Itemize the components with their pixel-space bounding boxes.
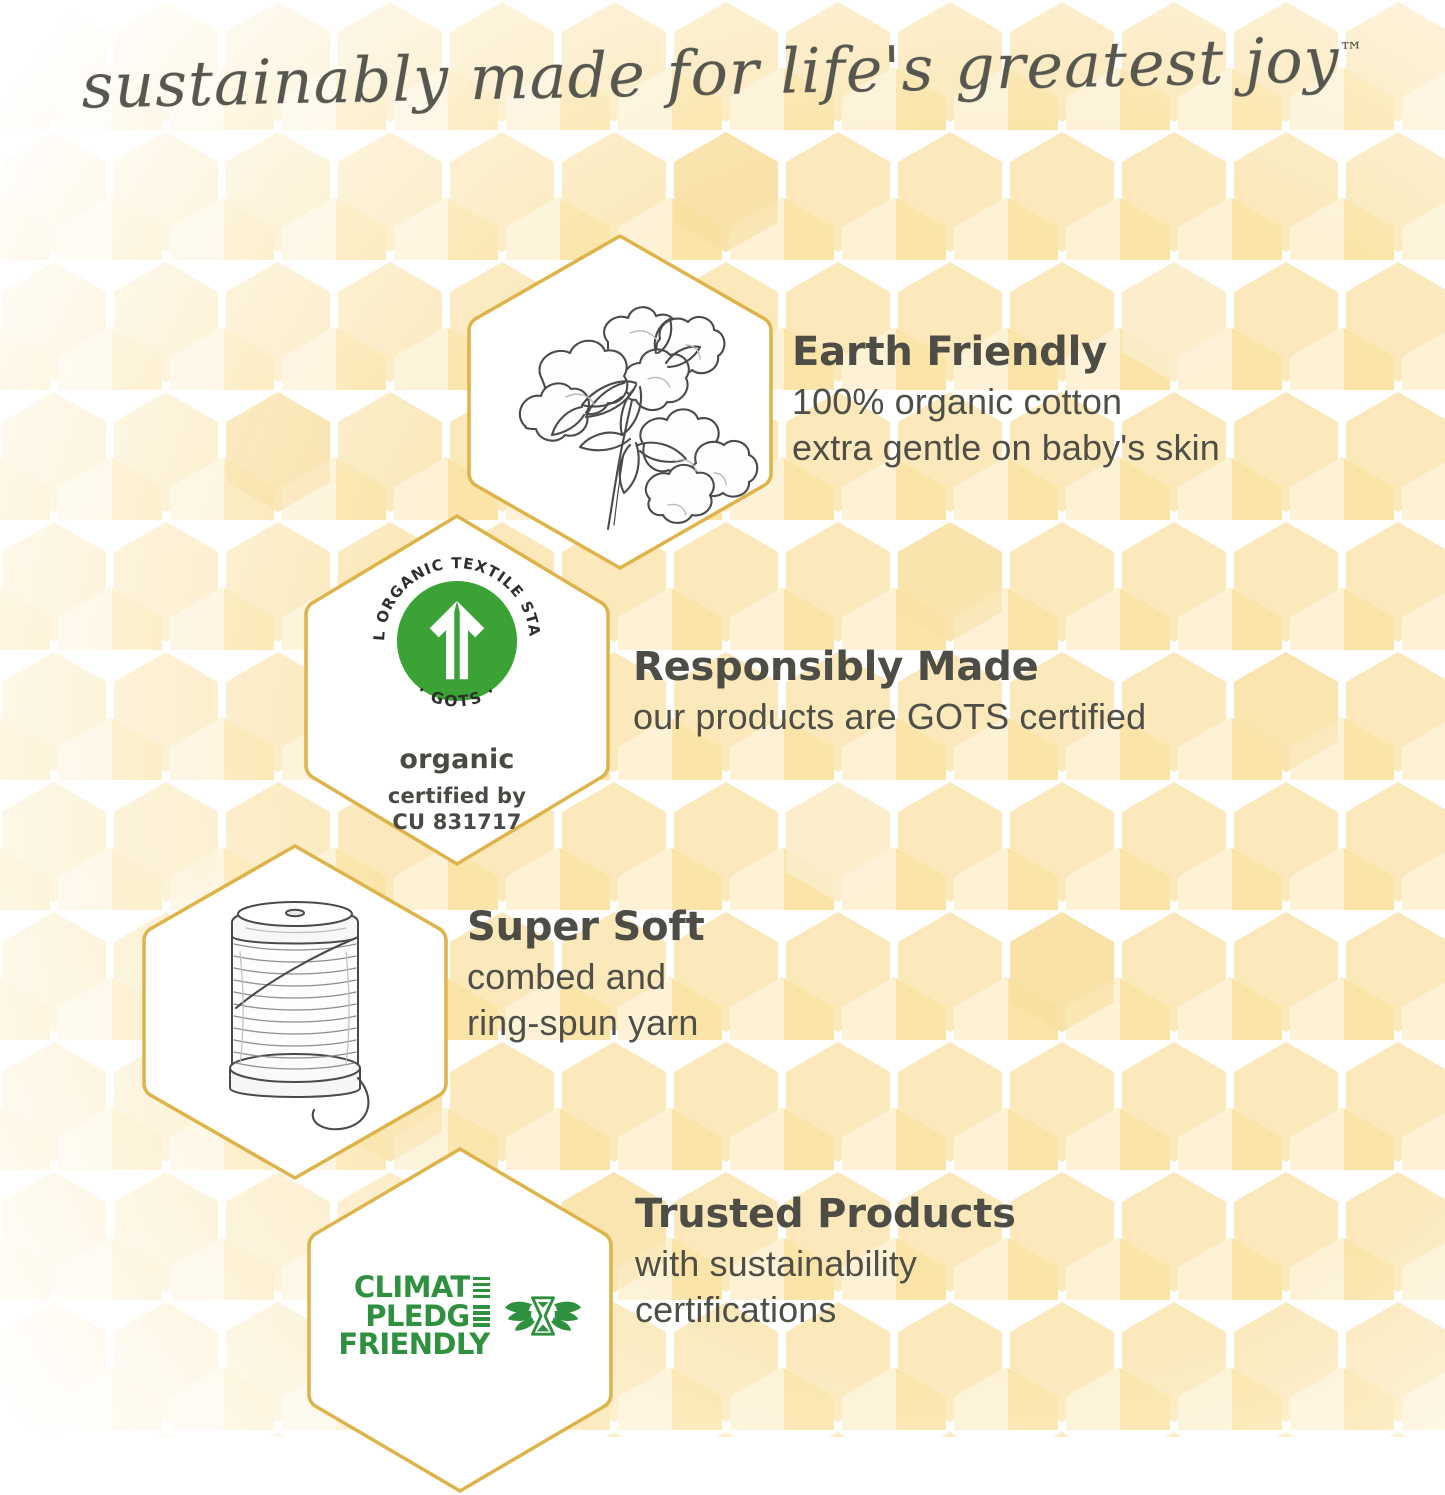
feature-card-super-soft: [140, 842, 450, 1182]
gots-seal-icon: GLOBAL ORGANIC TEXTILE STANDARD · GOTS ·: [366, 550, 548, 732]
feature-heading: Super Soft: [467, 905, 927, 950]
cpf-line-1: CLIMAT: [354, 1273, 470, 1302]
feature-heading: Trusted Products: [635, 1192, 1115, 1237]
gots-organic-label: organic: [399, 744, 514, 775]
feature-card-responsibly-made: GLOBAL ORGANIC TEXTILE STANDARD · GOTS ·…: [302, 512, 612, 868]
feature-card-trusted-products: CLIMAT PLEDG FRIENDLY: [305, 1145, 615, 1495]
feature-text-responsibly-made: Responsibly Made our products are GOTS c…: [633, 645, 1333, 740]
winged-hourglass-icon: [504, 1281, 582, 1351]
tagline-text: sustainably made for life's greatest joy: [81, 23, 1341, 122]
feature-heading: Earth Friendly: [792, 330, 1392, 375]
gots-logo-slot: GLOBAL ORGANIC TEXTILE STANDARD · GOTS ·…: [302, 512, 612, 868]
cpf-bars-icon: [473, 1277, 490, 1298]
feature-text-earth-friendly: Earth Friendly 100% organic cotton extra…: [792, 330, 1392, 471]
climate-pledge-wordmark: CLIMAT PLEDG FRIENDLY: [338, 1273, 489, 1359]
spool-illustration-slot: [140, 842, 450, 1182]
page-tagline: sustainably made for life's greatest joy…: [0, 21, 1445, 124]
gots-certification-icon: GLOBAL ORGANIC TEXTILE STANDARD · GOTS ·…: [302, 544, 612, 835]
cpf-line-3: FRIENDLY: [338, 1330, 489, 1359]
feature-body: our products are GOTS certified: [633, 694, 1333, 740]
feature-body: 100% organic cotton extra gentle on baby…: [792, 379, 1392, 471]
feature-text-super-soft: Super Soft combed and ring-spun yarn: [467, 905, 927, 1046]
climate-pledge-slot: CLIMAT PLEDG FRIENDLY: [305, 1145, 615, 1495]
feature-text-trusted-products: Trusted Products with sustainability cer…: [635, 1192, 1115, 1333]
trademark-symbol: ™: [1339, 37, 1364, 65]
cpf-bars-icon: [473, 1305, 490, 1326]
cpf-line-2: PLEDG: [365, 1302, 469, 1331]
climate-pledge-friendly-icon: CLIMAT PLEDG FRIENDLY: [338, 1273, 581, 1359]
feature-body: with sustainability certifications: [635, 1241, 1115, 1333]
gots-certified-by-label: certified by CU 831717: [388, 784, 526, 835]
cotton-boll-sketch-icon: [490, 267, 750, 537]
feature-body: combed and ring-spun yarn: [467, 954, 927, 1046]
feature-heading: Responsibly Made: [633, 645, 1333, 690]
thread-spool-sketch-icon: [180, 882, 410, 1142]
